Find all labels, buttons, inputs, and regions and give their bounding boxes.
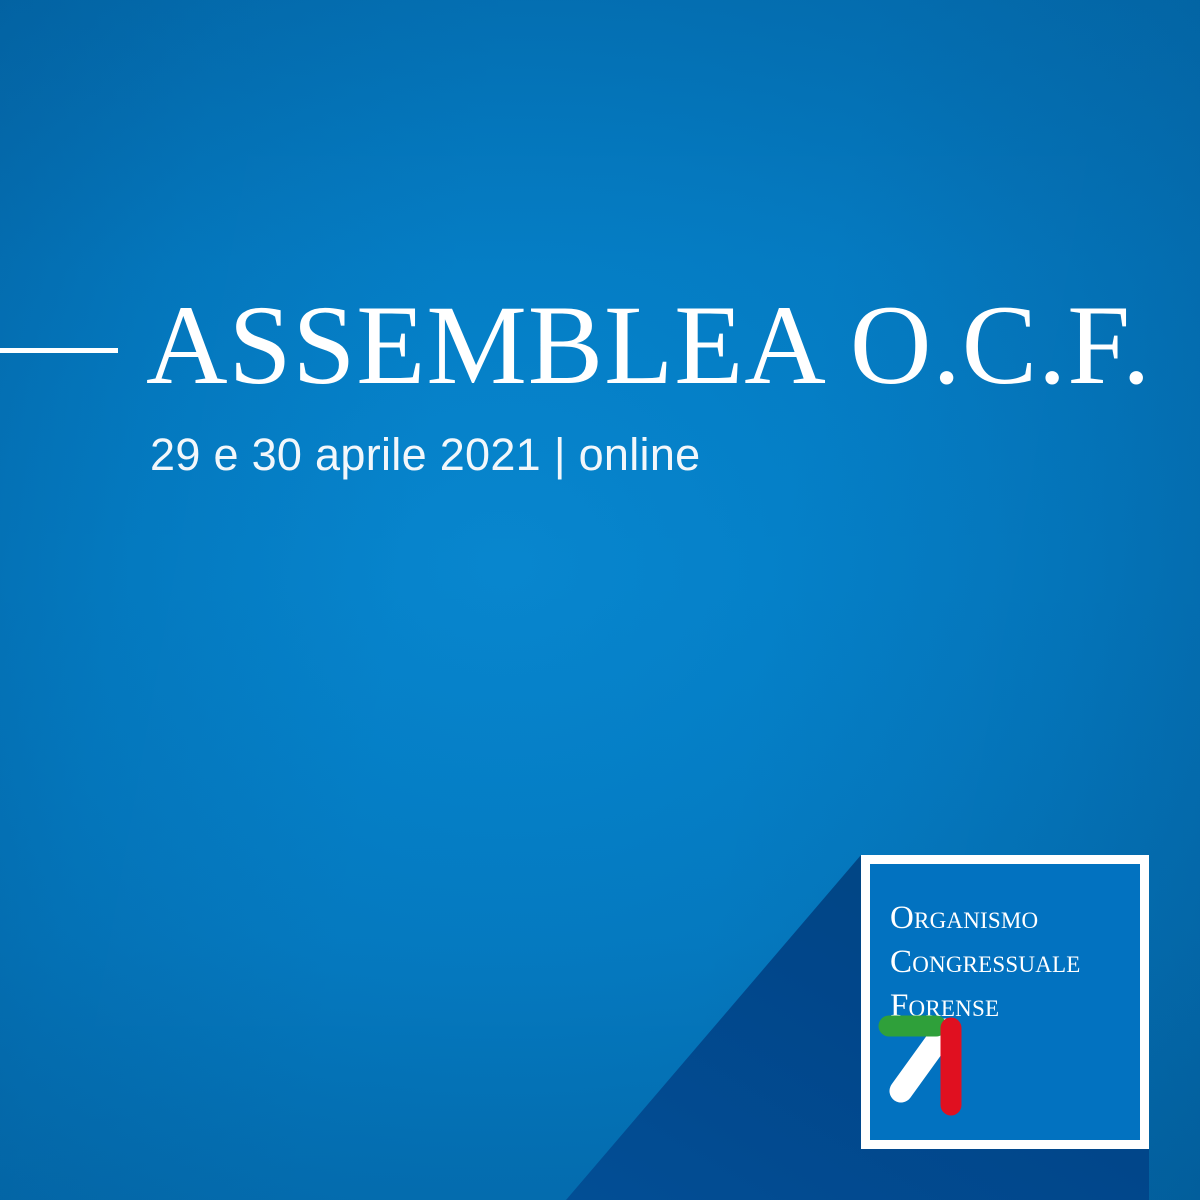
italian-flag-arrow-emblem-icon: [870, 1004, 990, 1132]
headline-rule: [0, 348, 118, 353]
page-subtitle: 29 e 30 aprile 2021 | online: [150, 428, 701, 481]
logo-wordmark-line-1: Organismo: [890, 896, 1081, 940]
ocf-logo[interactable]: Organismo Congressuale Forense: [861, 855, 1149, 1149]
logo-panel: Organismo Congressuale Forense: [870, 864, 1140, 1140]
page-title: ASSEMBLEA O.C.F.: [146, 285, 1151, 407]
poster-canvas: ASSEMBLEA O.C.F. 29 e 30 aprile 2021 | o…: [0, 0, 1200, 1200]
logo-wordmark-line-2: Congressuale: [890, 940, 1081, 984]
